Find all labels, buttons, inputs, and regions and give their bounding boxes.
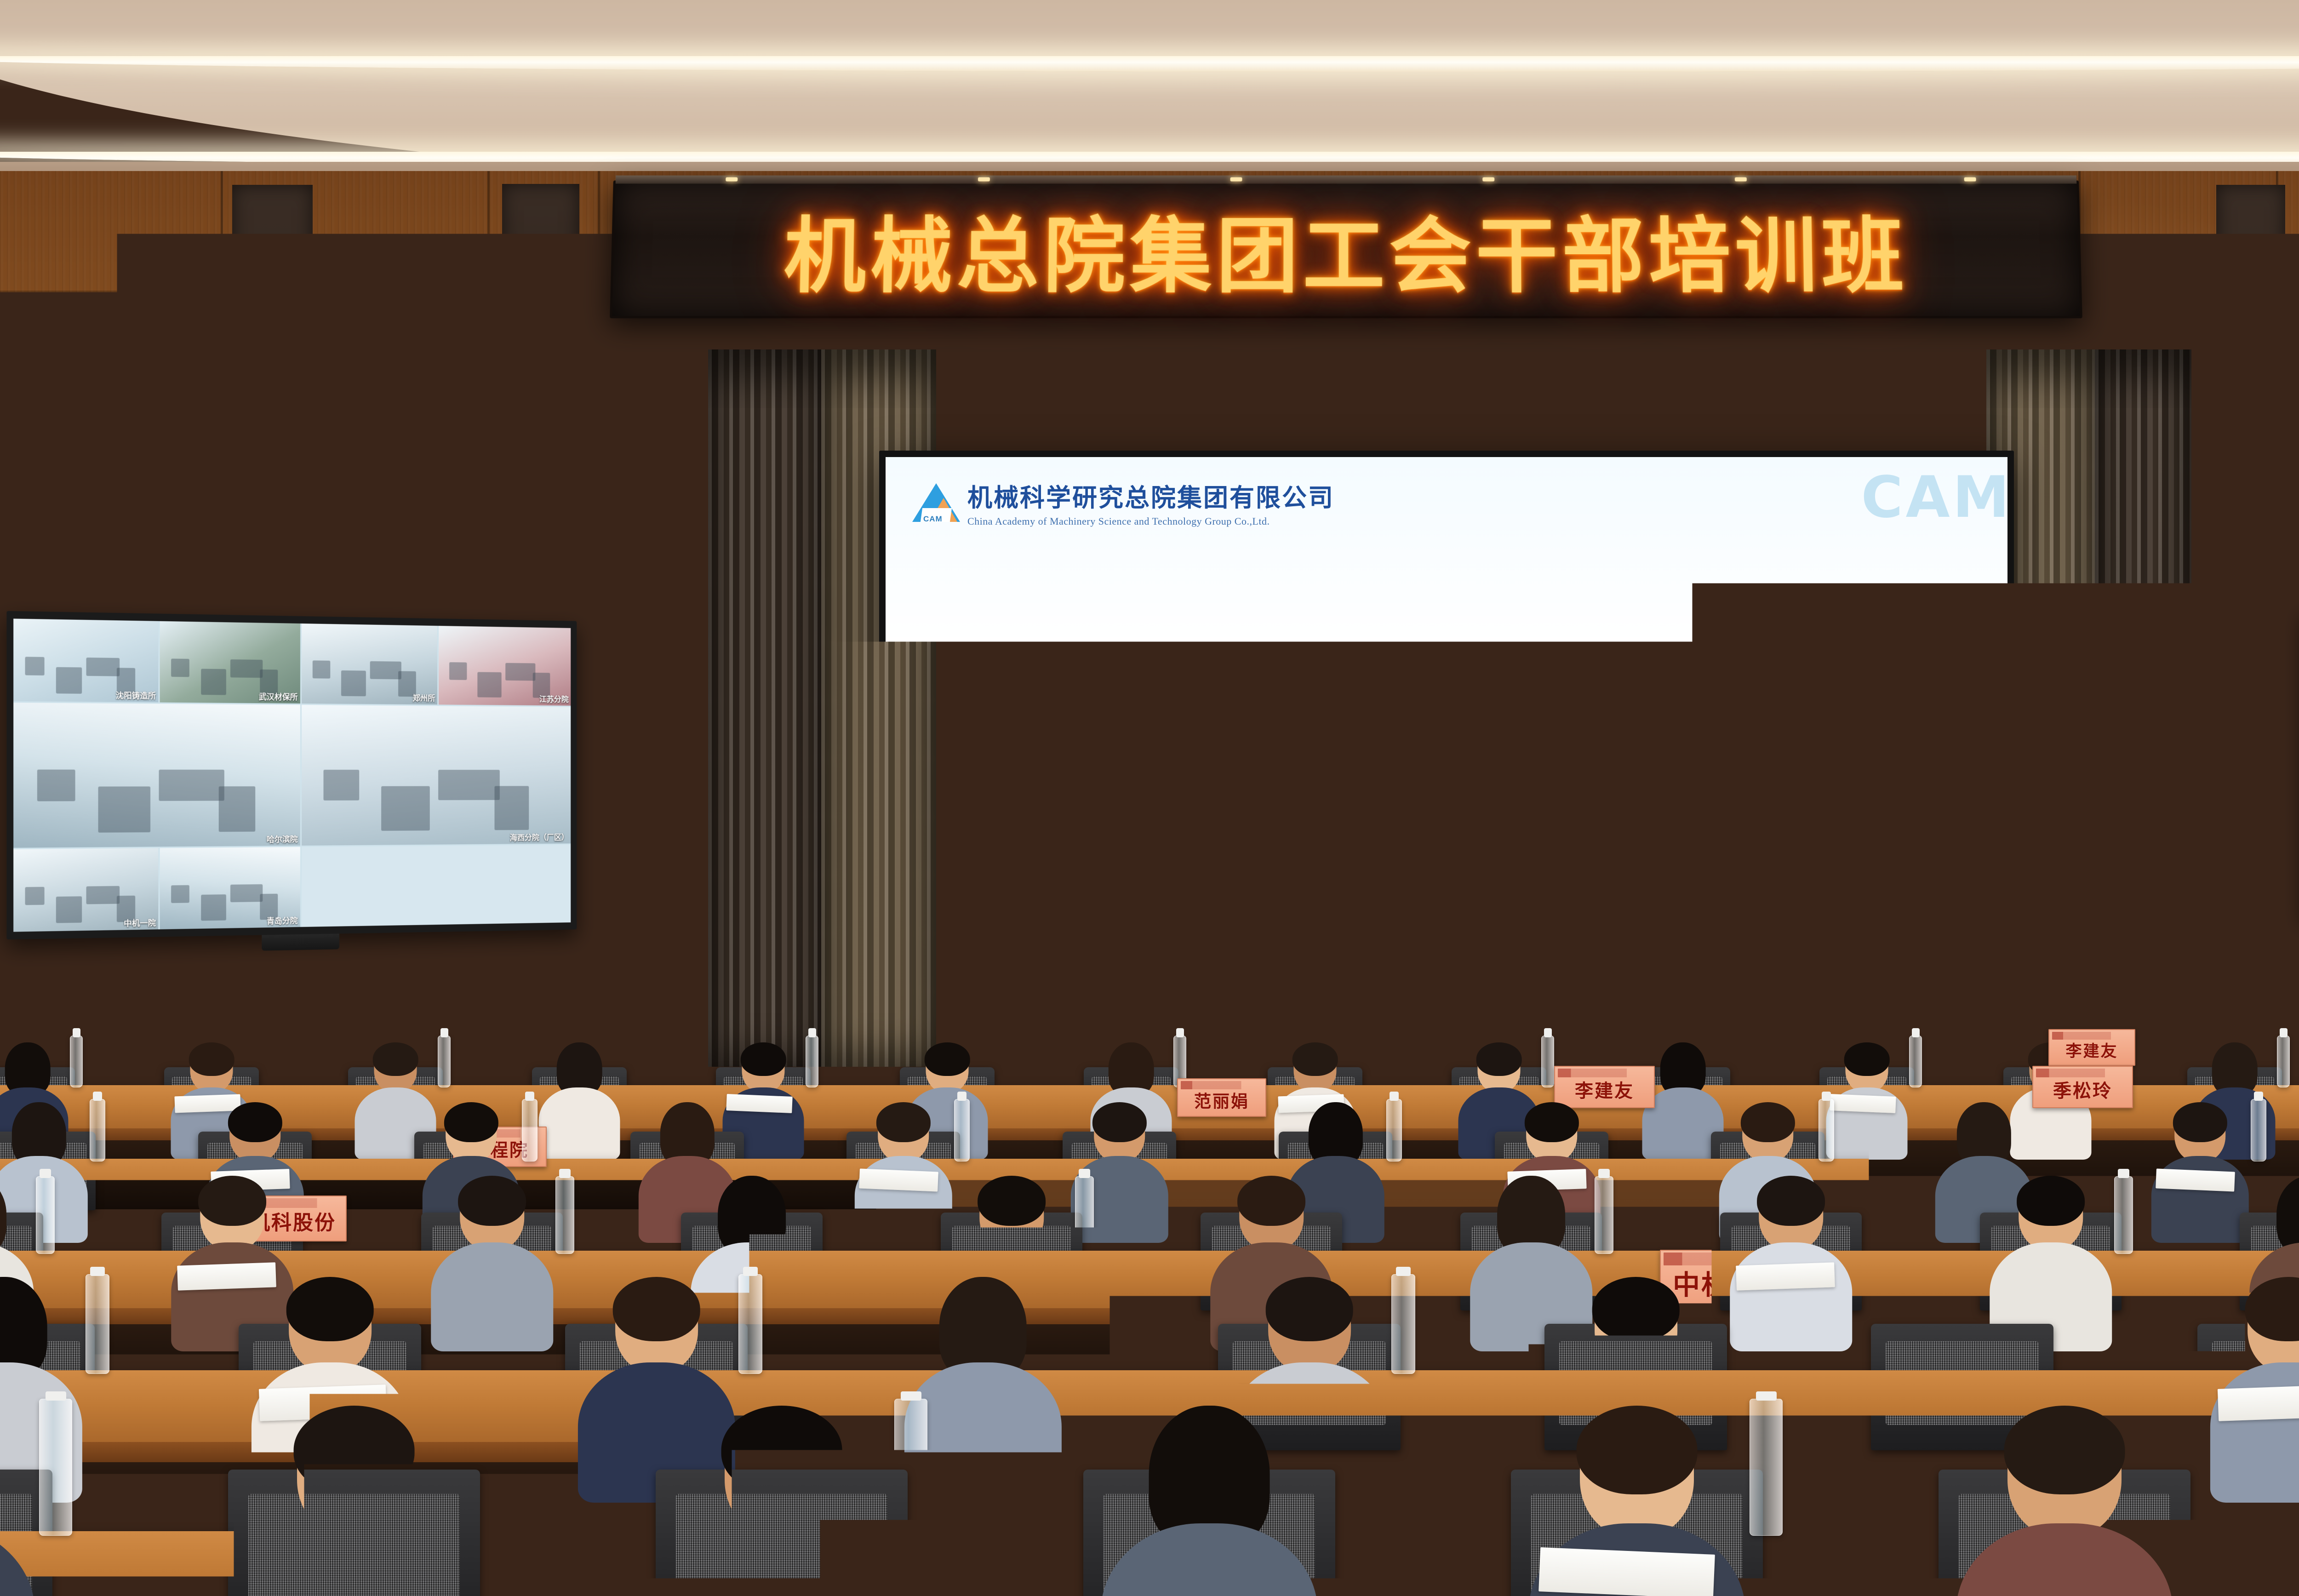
- video-tile-furniture: [505, 663, 536, 681]
- clock-date: 2019/6/3: [1952, 993, 1990, 1003]
- company-name-cn: 机械科学研究总院集团有限公司: [967, 477, 1334, 514]
- water-bottle: [2277, 1035, 2290, 1087]
- person-hair: [286, 1277, 374, 1341]
- audience-member: [1956, 1407, 2173, 1596]
- video-tile-furniture: [438, 770, 500, 800]
- water-bottle: [39, 1399, 72, 1536]
- volume-icon[interactable]: [1755, 987, 1767, 999]
- document-paper: [859, 1169, 938, 1192]
- video-tile-furniture: [171, 885, 189, 903]
- led-banner: 机械总院集团工会干部培训班: [610, 180, 2082, 318]
- document-paper: [726, 1094, 793, 1113]
- video-tile-furniture: [25, 657, 44, 675]
- stage-curtain-right-dark: [2095, 349, 2191, 1067]
- person-hair: [1577, 1406, 1698, 1494]
- water-bottle: [1075, 1176, 1094, 1254]
- person-torso: [904, 1362, 1062, 1503]
- person-torso: [2210, 1362, 2299, 1503]
- person-hair: [228, 1102, 282, 1142]
- person-hair: [925, 1042, 970, 1076]
- person-hair: [2004, 1406, 2125, 1494]
- network-signal-icon[interactable]: [1862, 987, 1874, 999]
- monitor-mount: [262, 934, 339, 951]
- video-tile-label: 青岛分院: [267, 914, 298, 926]
- water-bottle: [2251, 1099, 2266, 1161]
- video-tile-furniture: [86, 886, 120, 904]
- acoustic-column-left: [232, 185, 313, 635]
- person-hair: [612, 1277, 700, 1341]
- person-hair: [1844, 1042, 1890, 1076]
- video-tile-label: 中机一院: [124, 916, 156, 929]
- acoustic-panel-left: [502, 184, 579, 423]
- video-tile-label: 哈尔滨院: [267, 833, 298, 845]
- table-placard: 李建友: [2048, 1029, 2135, 1066]
- person-hair: [1292, 1042, 1338, 1076]
- water-bottle: [1541, 1035, 1554, 1087]
- wall-seam: [598, 171, 600, 1146]
- water-bottle: [522, 1099, 538, 1161]
- placard-text: 范丽娜: [1137, 940, 1172, 956]
- person-torso: [0, 1523, 35, 1596]
- placard-stand: [1183, 1116, 1260, 1117]
- audience-member: [904, 1278, 1062, 1492]
- video-tile: 中机一院: [13, 848, 158, 932]
- person-hair: [294, 1406, 415, 1494]
- video-tile-label: 海西分院（厂区）: [510, 831, 569, 842]
- video-tile-furniture: [56, 896, 82, 923]
- person-hair: [2173, 1102, 2227, 1142]
- water-bottle: [1391, 1274, 1416, 1374]
- video-tile-furniture: [201, 894, 226, 921]
- video-tile-furniture: [230, 884, 263, 903]
- video-tile-furniture: [370, 661, 401, 679]
- video-tile-furniture: [219, 787, 256, 832]
- placard-stand: [2039, 1107, 2126, 1108]
- water-bottle: [1386, 1099, 1402, 1161]
- water-bottle: [86, 1274, 110, 1374]
- video-tile-furniture: [86, 658, 120, 676]
- video-tile-furniture: [312, 661, 330, 679]
- flag-icon[interactable]: [1826, 987, 1838, 999]
- water-bottle: [738, 1274, 763, 1374]
- water-bottle: [1595, 1176, 1613, 1254]
- person-hair: [189, 1042, 234, 1076]
- water-bottle: [438, 1035, 451, 1087]
- sogou-input-icon[interactable]: [1647, 987, 1659, 999]
- update-icon[interactable]: [1808, 987, 1820, 999]
- person-hair: [721, 1406, 842, 1494]
- laptop-brand-label: Lenovo: [1124, 907, 1147, 914]
- table-placard: 李建友: [1554, 1066, 1655, 1108]
- led-banner-text: 机械总院集团工会干部培训班: [612, 183, 2080, 316]
- podium: [782, 876, 920, 1069]
- person-hair: [1476, 1042, 1522, 1076]
- person-hair: [1740, 1102, 1795, 1142]
- person-hair: [876, 1102, 930, 1142]
- placard-logo-header: [2036, 1069, 2129, 1077]
- placard-logo-header: [1664, 1253, 1796, 1265]
- water-bottle: [1750, 1399, 1783, 1536]
- video-tile-furniture: [56, 667, 82, 694]
- video-conference-monitor-left: 沈阳铸造所武汉材保所郑州所江苏分院哈尔滨院海西分院（厂区）中机一院青岛分院: [6, 611, 577, 940]
- video-tile-furniture: [324, 770, 360, 801]
- placard-logo-header: [1181, 1081, 1263, 1089]
- speaker-hair: [830, 757, 889, 787]
- person-hair: [1592, 1277, 1680, 1341]
- bluetooth-icon[interactable]: [1773, 987, 1784, 999]
- audience-member: [431, 1177, 553, 1343]
- water-bottle: [555, 1176, 574, 1254]
- placard-logo-header: [2052, 1032, 2132, 1040]
- help-icon[interactable]: [1665, 987, 1677, 999]
- person-hair: [978, 1176, 1046, 1226]
- tools-icon[interactable]: [1844, 987, 1856, 999]
- video-tile-furniture: [477, 672, 501, 698]
- person-hair: [1237, 1176, 1305, 1226]
- ceramic-cup: [1241, 924, 1264, 960]
- video-tile-furniture: [171, 659, 189, 677]
- usb-drive-icon[interactable]: [1683, 987, 1695, 999]
- audience-member: [1101, 1407, 1318, 1596]
- video-tile: 哈尔滨院: [13, 703, 300, 848]
- water-bottle: [1214, 910, 1230, 961]
- water-bottle: [1819, 1099, 1834, 1161]
- audience-member: [539, 1044, 620, 1154]
- video-tile-furniture: [450, 662, 467, 680]
- placard-text: 李建友: [2065, 1038, 2118, 1062]
- table-placard: 范丽娟: [1177, 1078, 1266, 1117]
- video-tile-furniture: [230, 659, 263, 677]
- document-paper: [2218, 1384, 2299, 1421]
- person-hair: [1757, 1176, 1825, 1226]
- acoustic-column-right: [2216, 185, 2285, 649]
- system-tray[interactable]: [1637, 987, 1952, 999]
- cam-watermark: CAM: [1861, 464, 2007, 531]
- video-tile-furniture: [494, 786, 529, 830]
- video-tile-empty: [301, 845, 571, 927]
- water-bottle: [90, 1099, 105, 1161]
- table-placard: 季松玲: [2032, 1066, 2133, 1108]
- video-tile-label: 沈阳铸造所: [116, 689, 156, 701]
- video-tile-furniture: [201, 669, 226, 695]
- windows-taskbar[interactable]: 16:21 2019/6/3: [1637, 978, 1997, 1007]
- speaker-icon[interactable]: [1880, 987, 1892, 999]
- person-torso: [431, 1242, 553, 1351]
- person-hair: [1524, 1102, 1578, 1142]
- video-tile-furniture: [37, 769, 75, 801]
- person-hair: [0, 1176, 6, 1256]
- ptz-camera-icon: [1977, 726, 2028, 769]
- audience-member: [2210, 1278, 2299, 1492]
- video-tile-label: 郑州所: [412, 692, 435, 704]
- placard-text: 季松玲: [2053, 1076, 2112, 1103]
- water-bottle: [894, 1399, 927, 1536]
- company-name-en: China Academy of Machinery Science and T…: [967, 515, 1334, 527]
- water-bottle: [36, 1176, 55, 1254]
- water-bottle: [1909, 1035, 1922, 1087]
- person-hair: [1265, 1277, 1353, 1341]
- water-bottle: [70, 1035, 83, 1087]
- person-hair: [2017, 1176, 2085, 1226]
- video-tile-furniture: [381, 786, 430, 831]
- audience-member: [0, 1407, 35, 1596]
- video-tile: 青岛分院: [160, 847, 300, 930]
- person-hair: [373, 1042, 418, 1076]
- document-paper: [2156, 1169, 2235, 1192]
- slide-title: 机械总院集团工会干部培训班: [968, 715, 1925, 816]
- video-tile: 武汉材保所: [160, 621, 300, 704]
- video-tile-furniture: [25, 887, 44, 905]
- video-tile-furniture: [98, 787, 150, 833]
- placard-text: 范丽娟: [1194, 1087, 1249, 1112]
- audience-member: [673, 1407, 890, 1596]
- document-paper: [256, 1548, 432, 1596]
- taskbar-clock[interactable]: 16:21 2019/6/3: [1952, 983, 1997, 1003]
- person-torso: [539, 1087, 620, 1160]
- conference-hall-photo: 机械总院集团工会干部培训班 CAM CAM 机械科学研究总院集团有限公司: [0, 0, 2299, 1596]
- person-hair: [1092, 1102, 1146, 1142]
- video-tile-furniture: [159, 770, 224, 801]
- video-tile: 郑州所: [301, 624, 437, 705]
- logo-triangle-icon: CAM: [912, 483, 960, 522]
- display-icon[interactable]: [1737, 987, 1749, 999]
- person-hair: [741, 1042, 786, 1076]
- water-bottle: [2044, 1274, 2069, 1374]
- person-hair: [198, 1176, 266, 1226]
- video-tile: 江苏分院: [439, 626, 571, 706]
- water-bottle: [806, 1035, 818, 1087]
- person-hair: [458, 1176, 526, 1226]
- slide-title-band: 机械总院集团工会干部培训班: [886, 644, 2007, 887]
- video-tile-furniture: [341, 670, 366, 696]
- slide-header: CAM CAM 机械科学研究总院集团有限公司 China Academy of …: [886, 457, 2007, 644]
- video-tile-label: 江苏分院: [539, 693, 569, 704]
- antivirus-ring-icon[interactable]: [1701, 987, 1713, 999]
- placard-speaker: 范丽娜: [1120, 930, 1190, 962]
- placard-text: 李建友: [1575, 1076, 1634, 1103]
- shield-check-icon[interactable]: [1719, 987, 1731, 999]
- sync-check-icon[interactable]: [1790, 987, 1802, 999]
- logo-cam-text: CAM: [923, 515, 943, 524]
- company-logo: CAM 机械科学研究总院集团有限公司 China Academy of Mach…: [912, 477, 1334, 527]
- video-tile: 海西分院（厂区）: [301, 705, 571, 845]
- person-torso: [1956, 1523, 2173, 1596]
- person-torso: [673, 1523, 890, 1596]
- clock-time: 16:21: [1952, 983, 1990, 993]
- video-tile-label: 武汉材保所: [259, 691, 298, 703]
- water-bottle: [2114, 1176, 2133, 1254]
- person-hair: [444, 1102, 498, 1142]
- placard-logo-header: [1558, 1069, 1651, 1077]
- water-bottle: [954, 1099, 970, 1161]
- document-paper: [1830, 1094, 1896, 1113]
- document-paper: [1538, 1547, 1715, 1596]
- video-tile: 沈阳铸造所: [13, 618, 158, 702]
- person-torso: [1101, 1523, 1318, 1596]
